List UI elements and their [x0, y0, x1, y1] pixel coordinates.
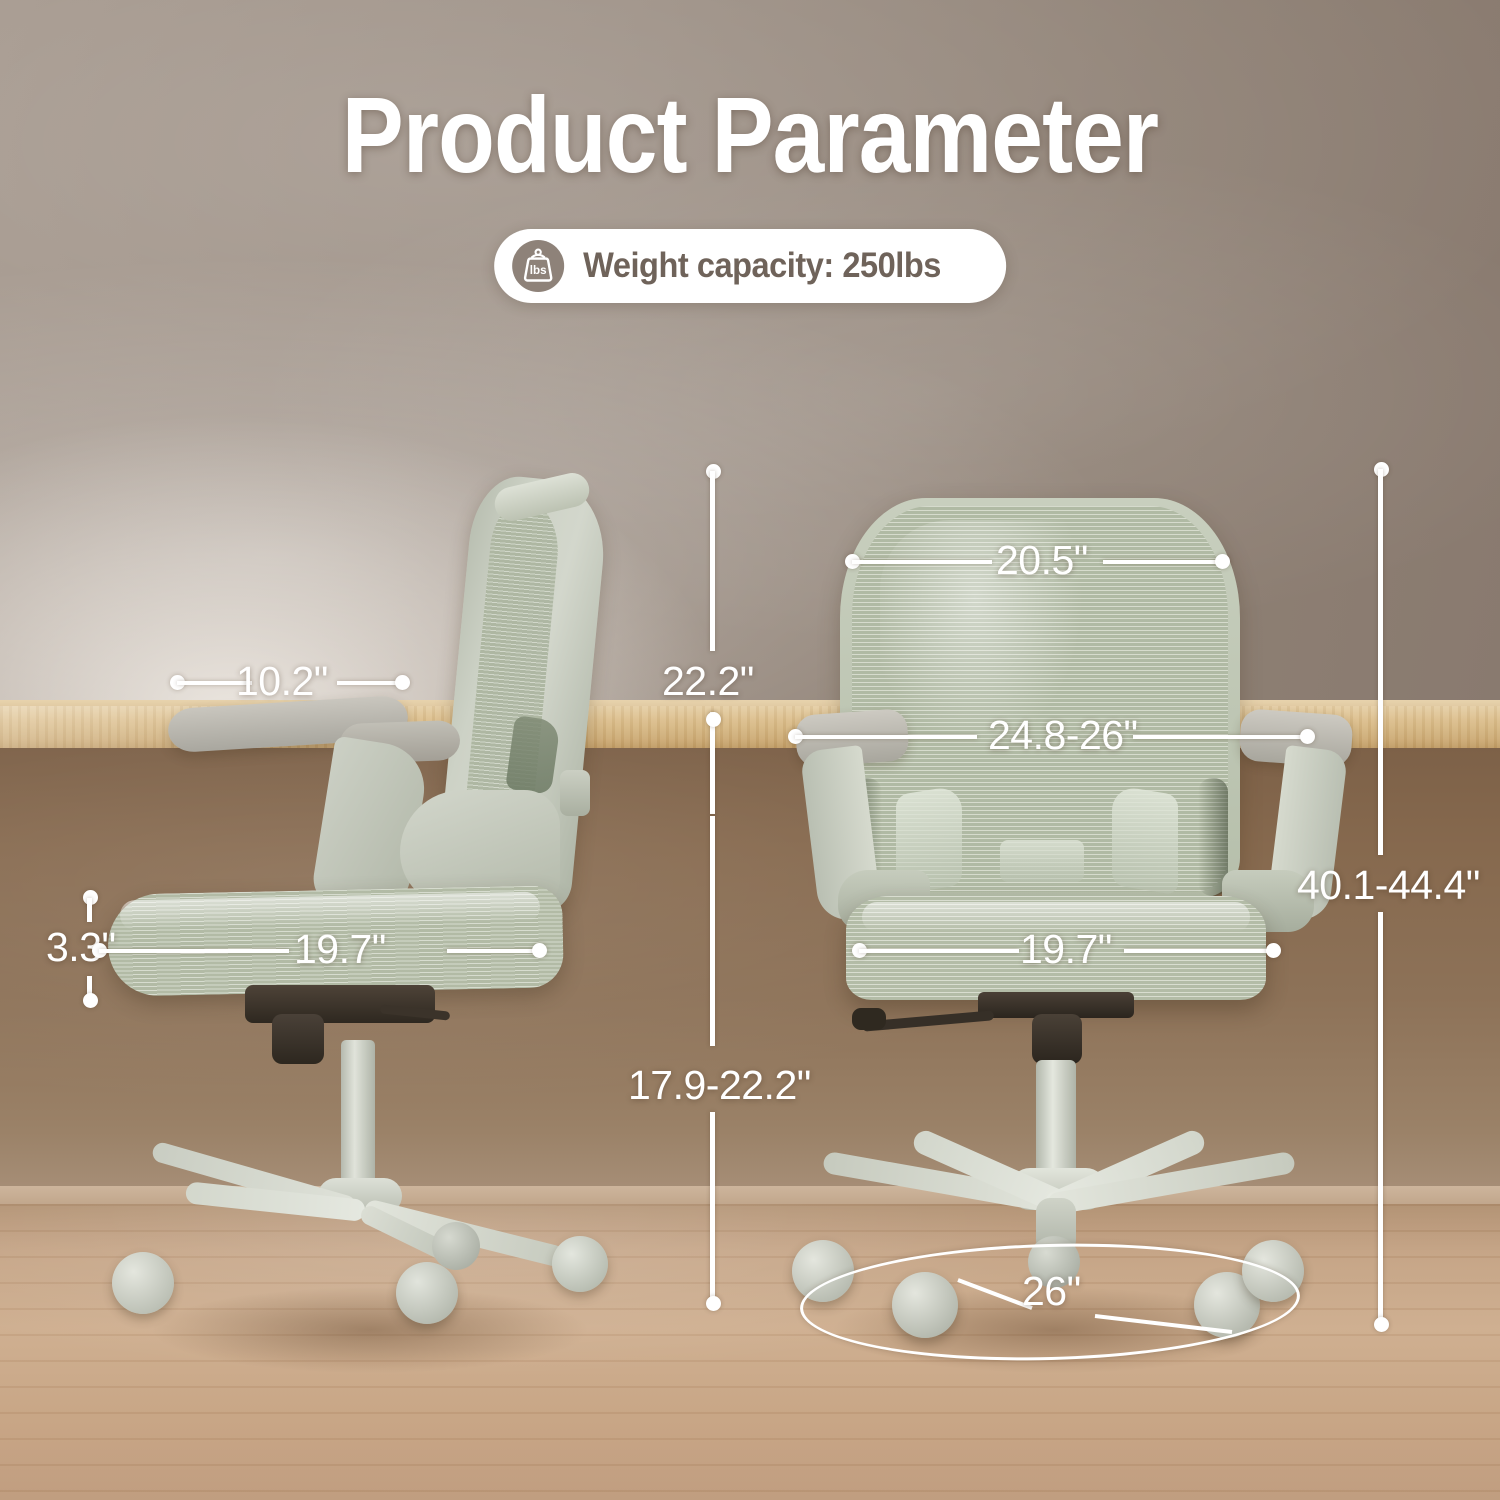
side-caster-1 [112, 1252, 174, 1314]
front-height-knob [1032, 1014, 1082, 1064]
dim-armrest-depth-label: 10.2" [236, 658, 328, 705]
dim-backrest-height-label: 22.2" [662, 658, 754, 705]
dim-seat-height-range-label: 17.9-22.2" [628, 1062, 811, 1109]
weight-lbs-icon: lbs [512, 240, 564, 292]
front-tilt-lever-handle [852, 1008, 886, 1030]
dim-base-diameter-label: 26" [1022, 1268, 1081, 1315]
weight-capacity-label: Weight capacity: 250lbs [583, 246, 941, 286]
dim-center-vertical [702, 464, 724, 1312]
side-caster-2 [396, 1262, 458, 1324]
side-tension-knob [560, 770, 590, 816]
side-caster-4 [552, 1236, 608, 1292]
dim-backrest-width-label: 20.5" [996, 537, 1088, 584]
dim-seat-width-front-label: 19.7" [1020, 926, 1112, 973]
dim-armrest-width-label: 24.8-26" [988, 712, 1138, 759]
dim-overall-height-label: 40.1-44.4" [1297, 862, 1480, 909]
product-parameter-image: Product Parameter lbs Weight capacity: 2… [0, 0, 1500, 1500]
side-gas-cylinder [341, 1040, 375, 1188]
dim-seat-depth-side-label: 19.7" [294, 926, 386, 973]
side-caster-3 [432, 1222, 480, 1270]
weight-capacity-badge: lbs Weight capacity: 250lbs [494, 229, 1006, 303]
front-lumbar-pad-center [1000, 840, 1084, 882]
floor-shadow-left [90, 1275, 650, 1385]
page-title: Product Parameter [105, 72, 1395, 197]
front-lumbar-rib-right [1112, 785, 1178, 895]
svg-text:lbs: lbs [530, 264, 547, 277]
side-tilt-knob [272, 1014, 324, 1064]
